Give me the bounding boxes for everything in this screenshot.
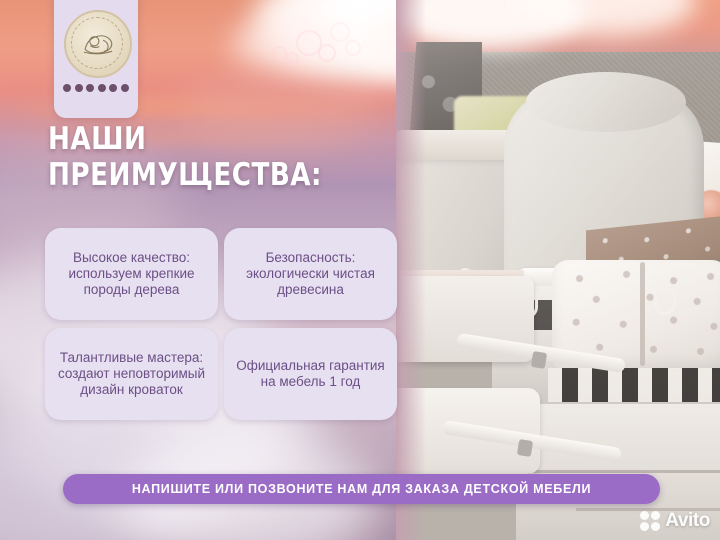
avito-wordmark: Avito <box>665 510 710 532</box>
benefits-grid: Высокое качество: используем крепкие пор… <box>45 228 401 428</box>
dot <box>86 84 94 92</box>
page-title: НАШИ ПРЕИМУЩЕСТВА: <box>48 122 368 194</box>
cta-banner[interactable]: НАПИШИТЕ ИЛИ ПОЗВОНИТЕ НАМ ДЛЯ ЗАКАЗА ДЕ… <box>63 474 660 504</box>
seal-inner-ring <box>71 17 123 69</box>
bumper-tie <box>654 290 676 315</box>
avito-dot <box>640 522 649 531</box>
headline-line-1: НАШИ <box>48 122 368 158</box>
product-photo <box>396 0 720 540</box>
dot <box>121 84 129 92</box>
bokeh-circle-icon <box>272 46 287 61</box>
dot <box>75 84 83 92</box>
benefit-card: Высокое качество: используем крепкие пор… <box>45 228 218 320</box>
avito-dot <box>640 511 649 520</box>
benefit-card: Официальная гарантия на мебель 1 год <box>224 328 397 420</box>
dot <box>63 84 71 92</box>
avito-watermark: Avito <box>640 510 710 532</box>
drawer-catch <box>531 351 547 369</box>
drawer-catch <box>517 439 533 457</box>
logo-card <box>54 0 138 118</box>
benefit-card: Талантливые мастера: создают неповторимы… <box>45 328 218 420</box>
benefits-row: Высокое качество: используем крепкие пор… <box>45 228 401 320</box>
panel-seam <box>516 470 720 473</box>
promo-image: НАШИ ПРЕИМУЩЕСТВА: Высокое качество: исп… <box>0 0 720 540</box>
dot <box>109 84 117 92</box>
sleeping-baby-seal-icon <box>64 10 132 78</box>
headline-line-2: ПРЕИМУЩЕСТВА: <box>48 158 368 194</box>
avito-dot <box>651 522 660 531</box>
bokeh-circle-icon <box>286 52 299 65</box>
benefits-row: Талантливые мастера: создают неповторимы… <box>45 328 401 420</box>
dot <box>98 84 106 92</box>
benefit-card: Безопасность: экологически чистая древес… <box>224 228 397 320</box>
bokeh-circle-icon <box>330 22 350 42</box>
bokeh-circle-icon <box>318 44 336 62</box>
bokeh-circle-icon <box>345 40 361 56</box>
bed-slats <box>548 368 720 402</box>
dots-row <box>63 84 129 92</box>
avito-dot <box>651 511 660 520</box>
cta-banner-label: НАПИШИТЕ ИЛИ ПОЗВОНИТЕ НАМ ДЛЯ ЗАКАЗА ДЕ… <box>132 482 591 496</box>
avito-dots-icon <box>640 511 660 531</box>
bumper-seam <box>640 262 645 366</box>
